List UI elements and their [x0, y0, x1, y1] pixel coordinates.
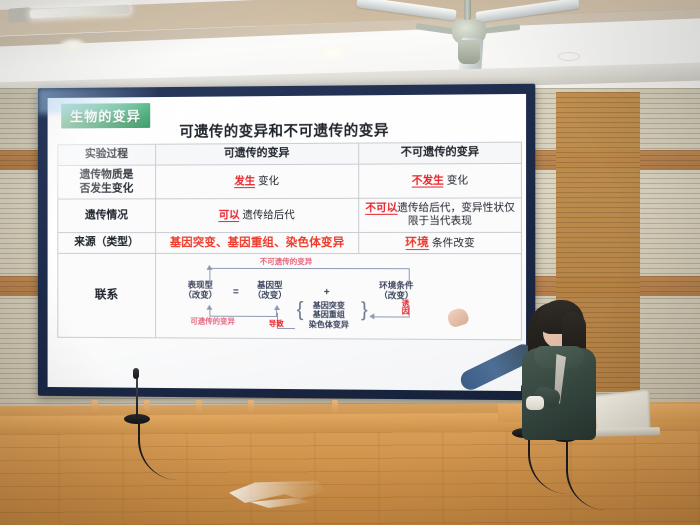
diagram-operator-equals: =	[233, 287, 239, 299]
fan-blade	[475, 0, 580, 23]
node-line: （改变）	[184, 290, 218, 300]
diagram-operator-plus: +	[324, 287, 330, 300]
cell-rest: 变化	[447, 174, 468, 186]
rail-post	[92, 400, 98, 416]
table-header-row: 实验过程 可遗传的变异 不可遗传的变异	[58, 142, 522, 165]
cell-rest: 变化	[258, 175, 279, 187]
rail-post	[196, 400, 202, 416]
tube-light-base	[8, 7, 33, 23]
list-item: 染色体变异	[309, 320, 349, 330]
diagram-node-genotype: 基因型 （改变）	[253, 281, 287, 301]
presenter	[498, 288, 638, 438]
brace-right-icon: }	[361, 301, 368, 319]
microphone-head-icon	[133, 368, 139, 379]
row-label: 联系	[58, 253, 156, 337]
highlight-term: 发生	[234, 175, 255, 188]
downlight-icon	[318, 46, 348, 61]
heritable-sources: 基因突变、基因重组、染色体变异	[155, 232, 359, 253]
highlight-term: 可以	[219, 209, 240, 222]
diagram-node-environment: 环境条件 （改变）	[379, 281, 413, 301]
heritable-cell: 可以 遗传给后代	[155, 199, 359, 233]
diagram-top-label: 不可遗传的变异	[260, 257, 312, 266]
node-line: （改变）	[253, 291, 287, 301]
heritable-cell: 发生 变化	[155, 164, 359, 199]
presenter-cuff	[526, 396, 544, 410]
table-header-cell: 实验过程	[58, 144, 156, 165]
diagram-list: 基因突变 基因重组 染色体变异	[309, 301, 349, 330]
fan-arm	[416, 23, 456, 35]
diagram-line-top	[209, 268, 409, 269]
ceiling	[0, 0, 700, 96]
non-heritable-cell: 不发生 变化	[359, 163, 521, 198]
projection-screen-frame: 生物的变异 可遗传的变异和不可遗传的变异 实验过程 可遗传的变异 不可遗传的变异…	[38, 84, 535, 401]
table-row: 遗传物质是否发生变化 发生 变化 不发生 变化	[58, 163, 522, 199]
table-row: 遗传情况 可以 遗传给后代 不可以遗传给后代，变异性状仅限于当代表现	[58, 198, 522, 232]
non-heritable-source: 环境 条件改变	[359, 232, 521, 254]
concept-diagram-cell: 不可遗传的变异 表现型 （改变） = 基因型	[155, 253, 521, 339]
row-label: 遗传情况	[58, 199, 156, 232]
diagram-node-phenotype: 表现型 （改变）	[184, 281, 218, 301]
diagram-label-trigger: 诱因	[401, 299, 409, 314]
diagram-arrow-trigger	[373, 316, 409, 317]
slide-title: 可遗传的变异和不可遗传的变异	[48, 118, 526, 142]
microphone-stem	[136, 375, 138, 417]
fan-motor	[458, 40, 480, 64]
diagram-label-cause: 导致	[269, 319, 284, 328]
downlight-icon	[58, 38, 88, 53]
highlight-term: 环境	[405, 236, 429, 249]
table-header-cell: 可遗传的变异	[155, 143, 359, 165]
table-header-cell: 不可遗传的变异	[359, 142, 521, 164]
highlight-term: 不发生	[412, 174, 444, 187]
row-label: 遗传物质是否发生变化	[58, 165, 156, 199]
presentation-slide[interactable]: 生物的变异 可遗传的变异和不可遗传的变异 实验过程 可遗传的变异 不可遗传的变异…	[48, 94, 526, 391]
classroom-scene: 生物的变异 可遗传的变异和不可遗传的变异 实验过程 可遗传的变异 不可遗传的变异…	[0, 0, 700, 525]
rail-post	[144, 400, 150, 416]
table-row-diagram: 联系 不可遗传的变异 表现型 （改变）	[58, 253, 522, 339]
table-row: 来源（类型） 基因突变、基因重组、染色体变异 环境 条件改变	[58, 232, 522, 254]
fan-rod	[464, 0, 471, 20]
non-heritable-cell: 不可以遗传给后代，变异性状仅限于当代表现	[359, 198, 521, 232]
list-item: 基因重组	[309, 311, 349, 321]
row-label: 来源（类型）	[58, 232, 156, 253]
diagram-label-heritable: 可遗传的变异	[190, 316, 235, 326]
cell-rest: 遗传给后代，变异性状仅限于当代表现	[397, 202, 515, 228]
cell-rest: 遗传给后代	[242, 209, 294, 221]
brace-left-icon: {	[297, 301, 304, 319]
cell-rest: 条件改变	[432, 236, 475, 248]
highlight-term: 不可以	[365, 202, 397, 215]
